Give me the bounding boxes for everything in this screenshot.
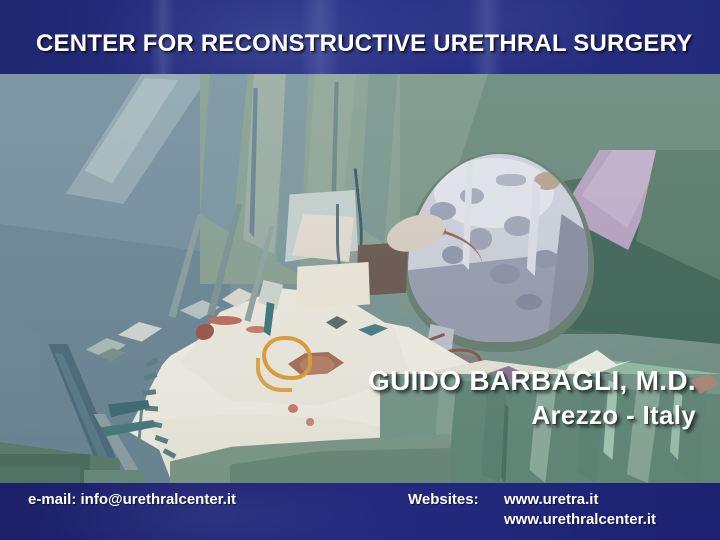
bottom-left-green-wedge [0, 466, 80, 483]
page-title: CENTER FOR RECONSTRUCTIVE URETHRAL SURGE… [36, 30, 692, 58]
presentation-slide: GUIDO BARBAGLI, M.D. Arezzo - Italy CENT… [0, 0, 720, 540]
cap-pattern-6 [504, 216, 532, 236]
paper-card-center [296, 262, 370, 310]
contact-email[interactable]: e-mail: info@urethralcenter.it [28, 491, 236, 508]
cap-pattern-2 [460, 188, 484, 204]
presenter-location: Arezzo - Italy [368, 400, 696, 431]
cap-pattern-11 [516, 294, 542, 310]
cap-pattern-3 [496, 174, 526, 186]
blood-speck-1 [208, 316, 242, 325]
cap-pattern-8 [490, 264, 520, 284]
website-link-uretra[interactable]: www.uretra.it [504, 491, 598, 508]
blood-speck-4 [288, 404, 298, 413]
websites-label: Websites: [408, 491, 479, 508]
presenter-name: GUIDO BARBAGLI, M.D. [368, 365, 696, 396]
website-link-urethralcenter[interactable]: www.urethralcenter.it [504, 511, 656, 528]
bottom-center-teal-wedge [84, 470, 144, 483]
blood-speck-5 [306, 418, 314, 426]
presenter-name-block: GUIDO BARBAGLI, M.D. Arezzo - Italy [368, 365, 696, 432]
